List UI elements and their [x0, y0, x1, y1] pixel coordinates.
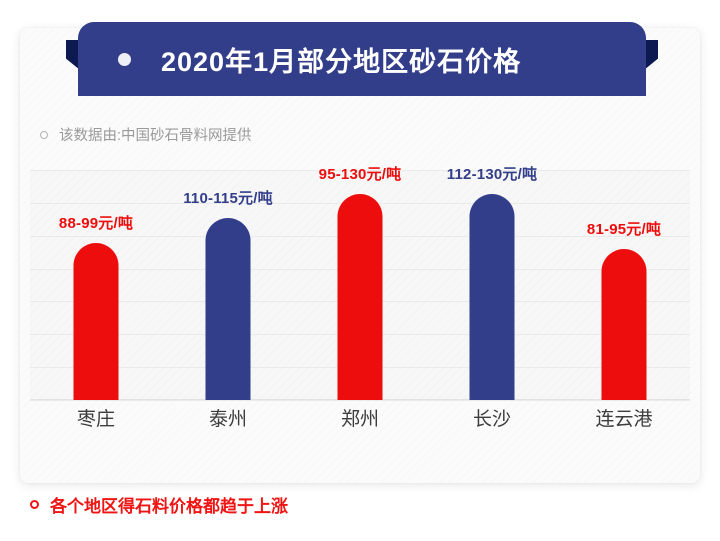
bar-group[interactable]: 88-99元/吨	[30, 170, 162, 400]
bar-value-label: 81-95元/吨	[587, 218, 661, 239]
bar-value-label: 95-130元/吨	[319, 163, 402, 184]
bar-group[interactable]: 81-95元/吨	[558, 170, 690, 400]
bar-value-label: 110-115元/吨	[183, 187, 273, 208]
bar-value-label: 88-99元/吨	[59, 212, 133, 233]
bar-group[interactable]: 110-115元/吨	[162, 170, 294, 400]
x-axis-tick-label: 郑州	[341, 404, 379, 431]
page-title: 2020年1月部分地区砂石价格	[161, 40, 521, 79]
hollow-circle-icon	[30, 500, 39, 509]
bar[interactable]	[602, 249, 647, 400]
bar-value-label: 112-130元/吨	[447, 163, 537, 184]
source-note: 该数据由:中国砂石骨料网提供	[40, 124, 252, 145]
x-axis-labels: 枣庄泰州郑州长沙连云港	[30, 404, 690, 444]
x-axis-tick-label: 枣庄	[77, 404, 115, 431]
bar-group[interactable]: 95-130元/吨	[294, 170, 426, 400]
bar-series: 88-99元/吨110-115元/吨95-130元/吨112-130元/吨81-…	[30, 170, 690, 400]
hollow-circle-icon	[40, 131, 48, 139]
x-axis-tick-label: 连云港	[595, 404, 652, 431]
bar[interactable]	[338, 194, 383, 400]
infographic-page: 2020年1月部分地区砂石价格 该数据由:中国砂石骨料网提供 88-99元/吨1…	[0, 0, 720, 541]
source-note-text: 该数据由:中国砂石骨料网提供	[59, 124, 252, 145]
title-ribbon: 2020年1月部分地区砂石价格	[78, 22, 646, 96]
filled-dot-icon	[118, 53, 131, 66]
bar[interactable]	[74, 243, 119, 400]
x-axis-tick-label: 泰州	[209, 404, 247, 431]
gridline	[30, 400, 690, 401]
footer-note: 各个地区得石料价格都趋于上涨	[30, 492, 288, 517]
ribbon-body: 2020年1月部分地区砂石价格	[78, 22, 646, 96]
footer-note-text: 各个地区得石料价格都趋于上涨	[50, 492, 288, 517]
bar-group[interactable]: 112-130元/吨	[426, 170, 558, 400]
x-axis-tick-label: 长沙	[473, 404, 511, 431]
bar[interactable]	[206, 218, 251, 400]
bar[interactable]	[470, 194, 515, 400]
